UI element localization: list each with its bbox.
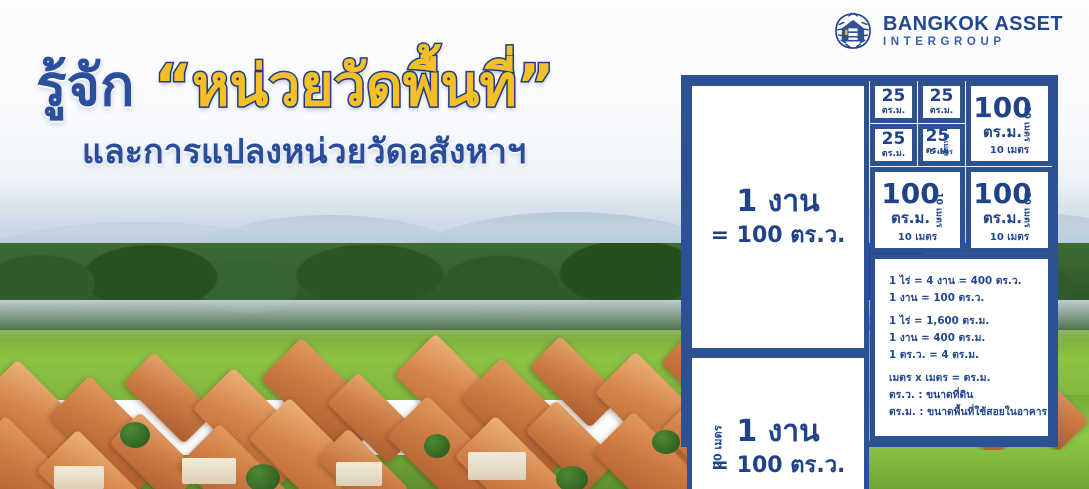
cell-25-sqm-3: 25 ตร.ม. (870, 124, 917, 166)
ngan-top-line1: 1 งาน (736, 185, 819, 218)
banner-stage: // decorative roof field, purely visual (0, 0, 1089, 489)
brand-subtitle: INTERGROUP (883, 37, 1063, 49)
cell-100-sqm-1: 100 ตร.ม. 10 เมตร 10 เมตร (966, 81, 1053, 166)
cell-25-sqm-4: 25 ตร.ม. 5 เมตร 5 เมตร (918, 124, 965, 166)
cell-100-3-unit: ตร.ม. (983, 211, 1022, 226)
info-line: 1 ตร.ว. = 4 ตร.ม. (889, 347, 1048, 364)
cell-100-sqm-2: 100 ตร.ม. 10 เมตร 10 เมตร (870, 167, 965, 253)
cell-25-2-unit: ตร.ม. (930, 107, 953, 116)
info-line: เมตร x เมตร = ตร.ม. (889, 370, 1048, 387)
headline-line-2: และการแปลงหน่วยวัดอสังหาฯ (82, 124, 676, 178)
cell-100-1-unit: ตร.ม. (983, 125, 1022, 140)
area-unit-diagram: 1 งาน = 100 ตร.ว. 1 งาน = 100 ตร.ว. 20 เ… (681, 75, 1058, 447)
brand-title: BANGKOK ASSET (883, 14, 1063, 34)
house-in-laurel-wreath-icon (832, 10, 874, 52)
ngan-bottom-line1: 1 งาน (736, 415, 819, 448)
cell-100-2-label-right: 10 เมตร (932, 192, 946, 227)
info-line: 1 งาน = 400 ตร.ม. (889, 330, 1048, 347)
cell-25-sqm-1: 25 ตร.ม. (870, 81, 917, 123)
ngan-bottom-label-left: 20 เมตร (709, 425, 727, 468)
cell-ngan-top: 1 งาน = 100 ตร.ว. (687, 81, 869, 353)
cell-25-1-unit: ตร.ม. (882, 107, 905, 116)
cell-100-3-label-bottom: 10 เมตร (990, 230, 1029, 245)
headline-line-1: รู้จัก “หน่วยวัดพื้นที่” (36, 56, 676, 118)
cell-25-3-unit: ตร.ม. (882, 150, 905, 159)
conversion-info-box: 1 ไร่ = 4 งาน = 400 ตร.ว. 1 งาน = 100 ตร… (870, 254, 1053, 441)
cell-25-4-label-bottom: 5 เมตร (930, 147, 953, 158)
info-line: 1 ไร่ = 4 งาน = 400 ตร.ว. (889, 273, 1048, 290)
brand-logo[interactable]: BANGKOK ASSET INTERGROUP (832, 10, 1063, 52)
headline-plain-text: รู้จัก (36, 53, 135, 119)
cell-ngan-bottom: 1 งาน = 100 ตร.ว. 20 เมตร 20 เมตร (687, 353, 869, 489)
cell-100-2-label-bottom: 10 เมตร (898, 230, 937, 245)
cell-100-1-label-right: 10 เมตร (1020, 106, 1034, 141)
ngan-top-line2: = 100 ตร.ว. (711, 222, 846, 250)
info-line: 1 งาน = 100 ตร.ว. (889, 290, 1048, 307)
ngan-bottom-line2: = 100 ตร.ว. (711, 452, 846, 480)
cell-100-2-value: 100 (881, 180, 939, 208)
cell-100-2-unit: ตร.ม. (891, 211, 930, 226)
housing-estate-photo: // decorative roof field, purely visual (0, 330, 790, 489)
cell-25-3-value: 25 (882, 131, 906, 148)
info-line: ตร.ว. : ขนาดที่ดิน (889, 387, 1048, 404)
cell-100-3-label-right: 10 เมตร (1020, 192, 1034, 227)
cell-25-1-value: 25 (882, 88, 906, 105)
headline-block: รู้จัก “หน่วยวัดพื้นที่” และการแปลงหน่วย… (36, 56, 676, 178)
info-line: 1 ไร่ = 1,600 ตร.ม. (889, 313, 1048, 330)
cell-25-2-value: 25 (930, 88, 954, 105)
info-line: ตร.ม. : ขนาดพื้นที่ใช้สอยในอาคาร (889, 404, 1048, 421)
cell-100-sqm-3: 100 ตร.ม. 10 เมตร 10 เมตร (966, 167, 1053, 253)
cell-100-1-label-bottom: 10 เมตร (990, 143, 1029, 158)
headline-highlight-text: “หน่วยวัดพื้นที่” (154, 53, 554, 119)
cell-25-sqm-2: 25 ตร.ม. (918, 81, 965, 123)
